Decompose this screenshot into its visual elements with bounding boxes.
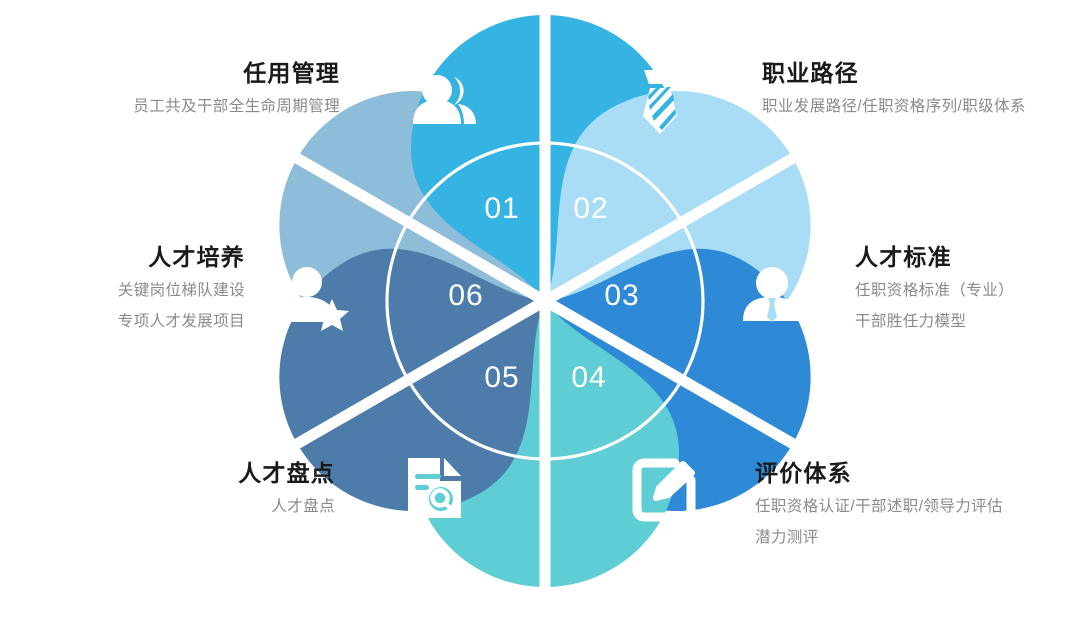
label-sub-06-0: 关键岗位梯队建设 — [30, 283, 245, 299]
label-title-04: 评价体系 — [755, 462, 1081, 485]
label-sub-03-0: 任职资格标准（专业） — [855, 283, 1081, 299]
petal-number-03: 03 — [604, 279, 639, 312]
label-sub-05-0: 人才盘点 — [80, 499, 335, 515]
petal-number-02: 02 — [573, 192, 608, 225]
infographic-canvas: 01 02 03 04 05 06 — [0, 0, 1081, 626]
label-title-02: 职业路径 — [762, 62, 1081, 85]
label-block-04: 评价体系 任职资格认证/干部述职/领导力评估 潜力测评 — [755, 462, 1081, 545]
label-block-05: 人才盘点 人才盘点 — [80, 462, 335, 515]
petal-number-04: 04 — [571, 361, 606, 394]
label-block-01: 任用管理 员工共及干部全生命周期管理 — [0, 62, 340, 115]
label-title-03: 人才标准 — [855, 246, 1081, 269]
label-block-02: 职业路径 职业发展路径/任职资格序列/职级体系 — [762, 62, 1081, 115]
label-sub-06-1: 专项人才发展项目 — [30, 314, 245, 330]
label-sub-04-0: 任职资格认证/干部述职/领导力评估 — [755, 499, 1081, 515]
petal-number-01: 01 — [484, 192, 519, 225]
label-sub-01-0: 员工共及干部全生命周期管理 — [0, 99, 340, 115]
petal-number-06: 06 — [448, 279, 483, 312]
label-title-06: 人才培养 — [30, 246, 245, 269]
label-block-03: 人才标准 任职资格标准（专业） 干部胜任力模型 — [855, 246, 1081, 329]
label-sub-02-0: 职业发展路径/任职资格序列/职级体系 — [762, 99, 1081, 115]
label-sub-03-1: 干部胜任力模型 — [855, 314, 1081, 330]
label-title-01: 任用管理 — [0, 62, 340, 85]
petal-number-05: 05 — [484, 361, 519, 394]
label-title-05: 人才盘点 — [80, 462, 335, 485]
label-block-06: 人才培养 关键岗位梯队建设 专项人才发展项目 — [30, 246, 245, 329]
label-sub-04-1: 潜力测评 — [755, 530, 1081, 546]
